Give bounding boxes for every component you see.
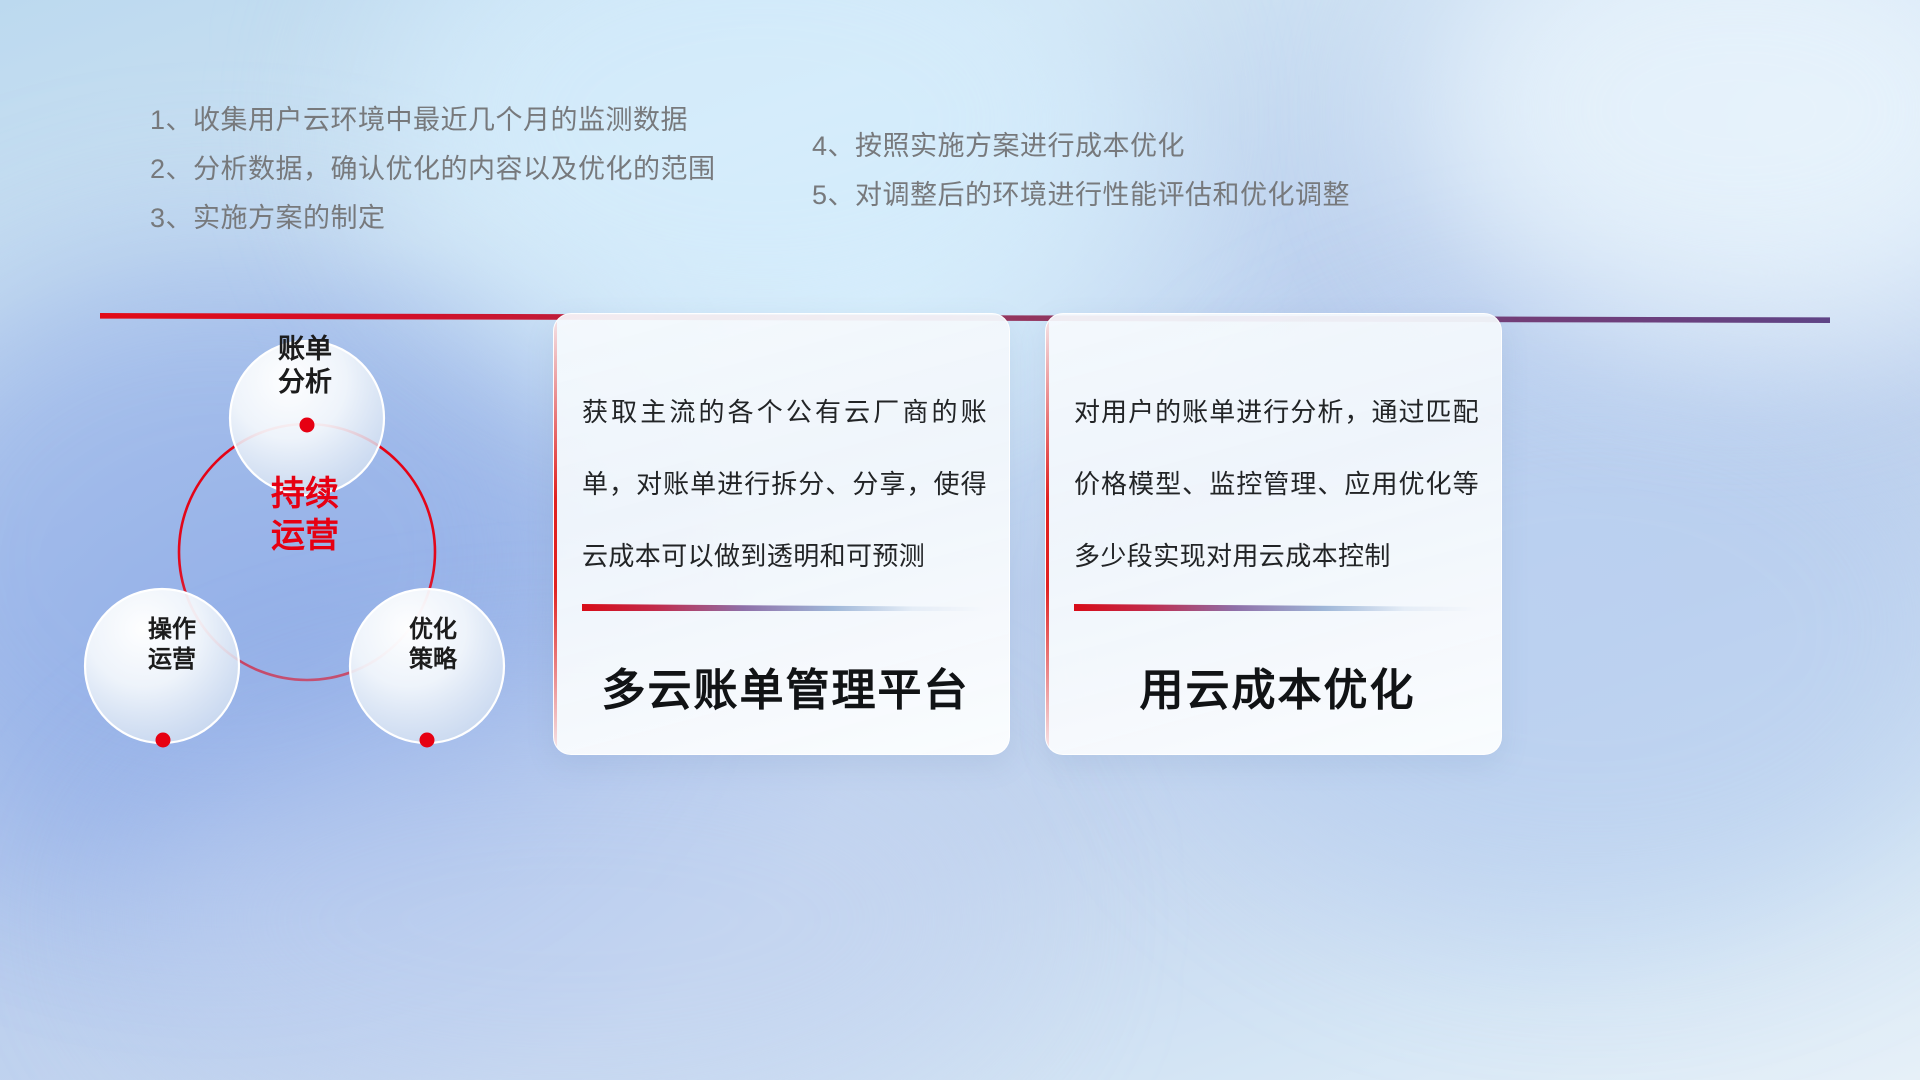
feature-card[interactable]: 获取主流的各个公有云厂商的账单，对账单进行拆分、分享，使得云成本可以做到透明和可… <box>553 313 1010 755</box>
list-item: 5、对调整后的环境进行性能评估和优化调整 <box>812 171 1452 220</box>
node-dot-left <box>156 733 171 748</box>
venn-diagram: 账单 分析 操作 运营 优化 策略 持续 运营 <box>75 285 575 805</box>
steps-list-left: 1、收集用户云环境中最近几个月的监测数据 2、分析数据，确认优化的内容以及优化的… <box>150 96 850 243</box>
card-title: 多云账单管理平台 <box>582 654 989 718</box>
list-item: 3、实施方案的制定 <box>150 194 850 243</box>
venn-diagram-svg <box>75 285 575 805</box>
background-blob <box>1420 0 1920 340</box>
slide-canvas: 1、收集用户云环境中最近几个月的监测数据 2、分析数据，确认优化的内容以及优化的… <box>0 0 1920 1080</box>
feature-card[interactable]: 对用户的账单进行分析，通过匹配价格模型、监控管理、应用优化等多少段实现对用云成本… <box>1045 313 1502 755</box>
bubble-left <box>85 589 239 743</box>
card-title: 用云成本优化 <box>1074 654 1481 718</box>
steps-list-right: 4、按照实施方案进行成本优化 5、对调整后的环境进行性能评估和优化调整 <box>812 122 1452 220</box>
card-divider <box>582 604 985 611</box>
node-dot-top <box>300 418 315 433</box>
card-divider <box>1074 604 1477 611</box>
list-item: 4、按照实施方案进行成本优化 <box>812 122 1452 171</box>
node-dot-right <box>420 733 435 748</box>
list-item: 1、收集用户云环境中最近几个月的监测数据 <box>150 96 850 145</box>
card-body-text: 对用户的账单进行分析，通过匹配价格模型、监控管理、应用优化等多少段实现对用云成本… <box>1074 376 1479 592</box>
list-item: 2、分析数据，确认优化的内容以及优化的范围 <box>150 145 850 194</box>
card-body-text: 获取主流的各个公有云厂商的账单，对账单进行拆分、分享，使得云成本可以做到透明和可… <box>582 376 987 592</box>
bubble-right <box>350 589 504 743</box>
